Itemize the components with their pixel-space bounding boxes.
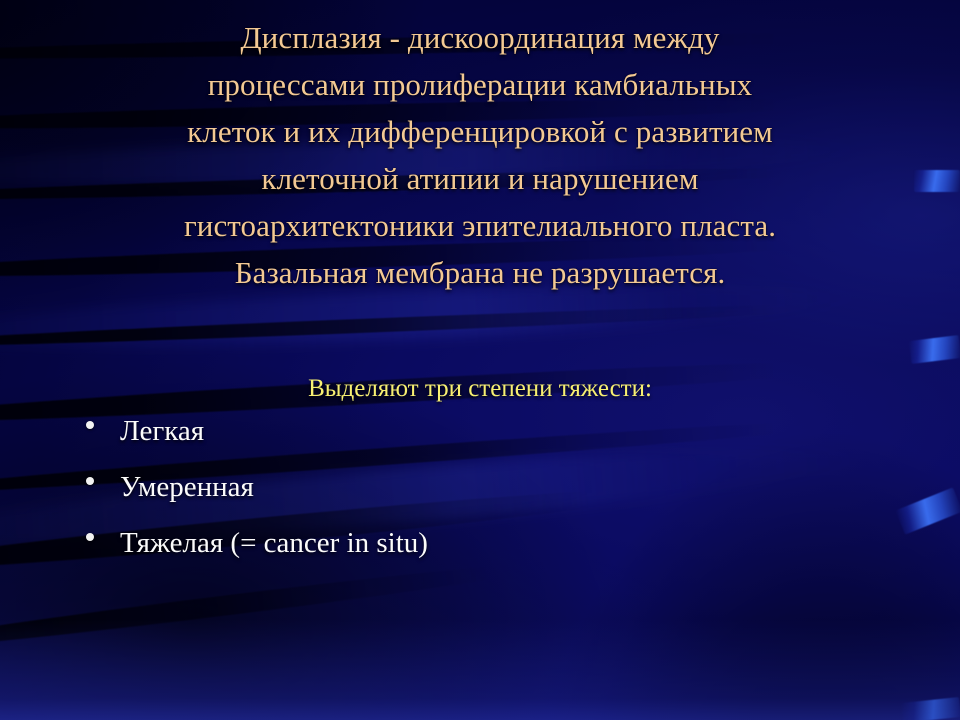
title-line: гистоархитектоники эпителиального пласта… [24, 202, 936, 249]
bullet-list: Легкая Умеренная Тяжелая (= cancer in si… [86, 414, 846, 582]
bullet-dot-icon [86, 533, 94, 541]
slide-content: Дисплазия - дискоординация между процесс… [0, 0, 960, 720]
slide-title: Дисплазия - дискоординация между процесс… [24, 14, 936, 296]
list-item: Тяжелая (= cancer in situ) [86, 526, 846, 582]
title-line: клеток и их дифференцировкой с развитием [24, 108, 936, 155]
bullet-dot-icon [86, 477, 94, 485]
list-item: Умеренная [86, 470, 846, 526]
title-line: Базальная мембрана не разрушается. [24, 249, 936, 296]
list-item-label: Тяжелая (= cancer in situ) [120, 526, 846, 560]
list-item-label: Легкая [120, 414, 846, 448]
list-item: Легкая [86, 414, 846, 470]
bullet-dot-icon [86, 421, 94, 429]
subheading: Выделяют три степени тяжести: [24, 374, 936, 404]
title-line: клеточной атипии и нарушением [24, 155, 936, 202]
title-line: процессами пролиферации камбиальных [24, 61, 936, 108]
presentation-slide: Дисплазия - дискоординация между процесс… [0, 0, 960, 720]
list-item-label: Умеренная [120, 470, 846, 504]
title-line: Дисплазия - дискоординация между [24, 14, 936, 61]
